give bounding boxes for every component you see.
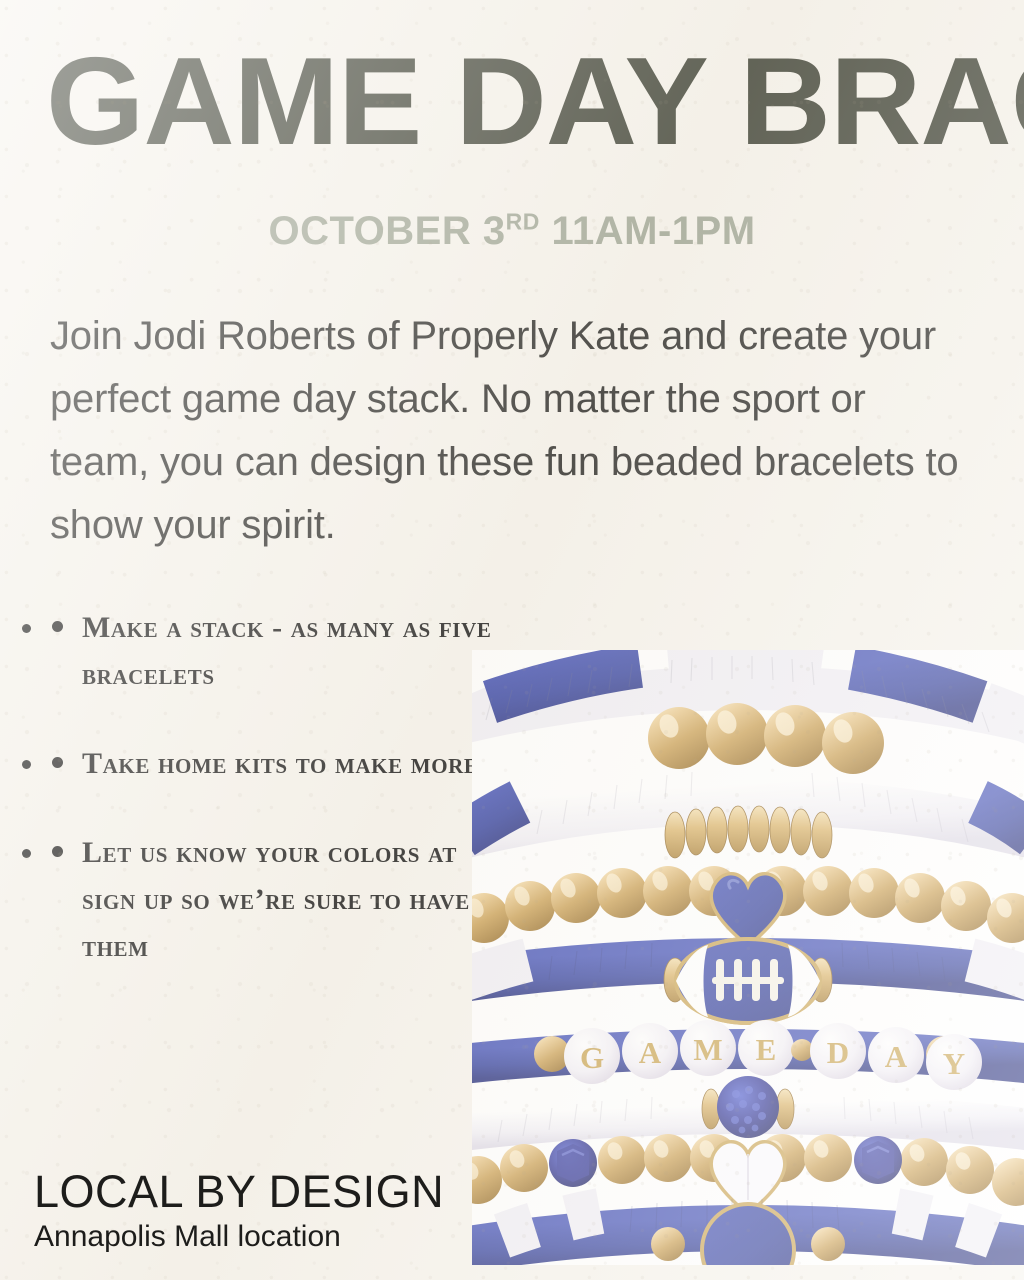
event-date-time: OCTOBER 3RD 11AM-1PM (0, 209, 1024, 254)
bullet-dot-icon (52, 757, 63, 768)
bracelet-stack-illustration: G A M E D A Y (472, 650, 1024, 1265)
letter-bead: A (868, 1027, 924, 1083)
letter-bead: Y (926, 1034, 982, 1090)
footer: LOCAL BY DESIGN Annapolis Mall location (34, 1166, 444, 1256)
letter-bead: E (738, 1020, 794, 1076)
blue-football-charm (676, 939, 820, 1023)
list-item: TAKE HOME KITS TO MAKE MORE (46, 740, 498, 787)
letter-bead-text: A (639, 1035, 662, 1070)
list-item: MAKE A STACK - AS MANY AS FIVE BRACELETS (46, 604, 498, 698)
event-date: OCTOBER 3 (268, 209, 505, 253)
letter-bead: G (564, 1028, 620, 1084)
list-item: LET US KNOW YOUR COLORS AT SIGN UP SO WE… (46, 829, 498, 970)
letter-bead-text: D (827, 1035, 849, 1070)
letter-bead-text: E (756, 1032, 777, 1067)
brand-name: LOCAL BY DESIGN (34, 1166, 444, 1218)
bullet-dot-icon (52, 621, 63, 632)
letter-bead: A (622, 1023, 678, 1079)
blue-crystal-bead (854, 1136, 902, 1184)
list-item-label: MAKE A STACK - AS MANY AS FIVE BRACELETS (82, 611, 491, 691)
letter-bead: M (680, 1020, 736, 1076)
location-name: Annapolis Mall location (34, 1218, 444, 1256)
event-description: Join Jodi Roberts of Properly Kate and c… (50, 305, 962, 557)
letter-bead-text: Y (943, 1046, 965, 1081)
event-time-range: 11AM-1PM (540, 209, 756, 253)
list-item-label: TAKE HOME KITS TO MAKE MORE (82, 747, 479, 780)
letter-bead: D (810, 1023, 866, 1079)
blue-crystal-bead (549, 1139, 597, 1187)
date-ordinal-suffix: RD (506, 209, 540, 235)
bullet-dot-icon (52, 846, 63, 857)
blue-pave-bead (717, 1076, 779, 1138)
bracelet-stack-photo: G A M E D A Y (472, 650, 1024, 1265)
details-bullet-list: MAKE A STACK - AS MANY AS FIVE BRACELETS… (46, 604, 498, 1012)
letter-bead-text: M (693, 1032, 722, 1067)
page-title: GAME DAY BRACELETS (46, 46, 1005, 158)
list-item-label: LET US KNOW YOUR COLORS AT SIGN UP SO WE… (82, 836, 470, 963)
letter-bead-text: A (885, 1039, 908, 1074)
letter-bead-text: G (580, 1040, 604, 1075)
